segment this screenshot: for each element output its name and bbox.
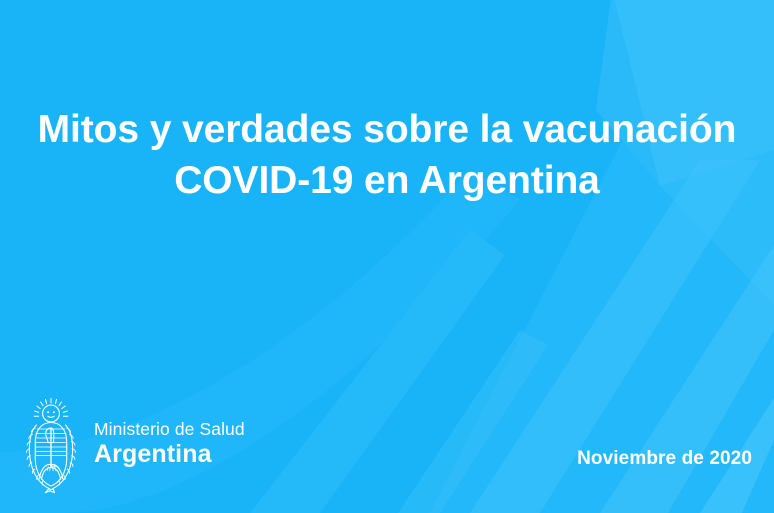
ministry-name: Ministerio de Salud [94, 419, 245, 440]
title-line-1: Mitos y verdades sobre la vacunación [22, 104, 752, 155]
slide-date: Noviembre de 2020 [577, 447, 752, 471]
page-title: Mitos y verdades sobre la vacunación COV… [0, 104, 774, 206]
title-line-2: COVID-19 en Argentina [22, 155, 752, 206]
title-slide: Mitos y verdades sobre la vacunación COV… [0, 0, 774, 513]
coat-of-arms-svg [22, 397, 80, 495]
country-name: Argentina [94, 440, 245, 468]
ministry-logo-text: Ministerio de Salud Argentina [94, 419, 245, 474]
argentina-coat-of-arms-icon [22, 397, 80, 495]
ministry-logo: Ministerio de Salud Argentina [22, 397, 245, 495]
slide-content: Mitos y verdades sobre la vacunación COV… [0, 0, 774, 513]
